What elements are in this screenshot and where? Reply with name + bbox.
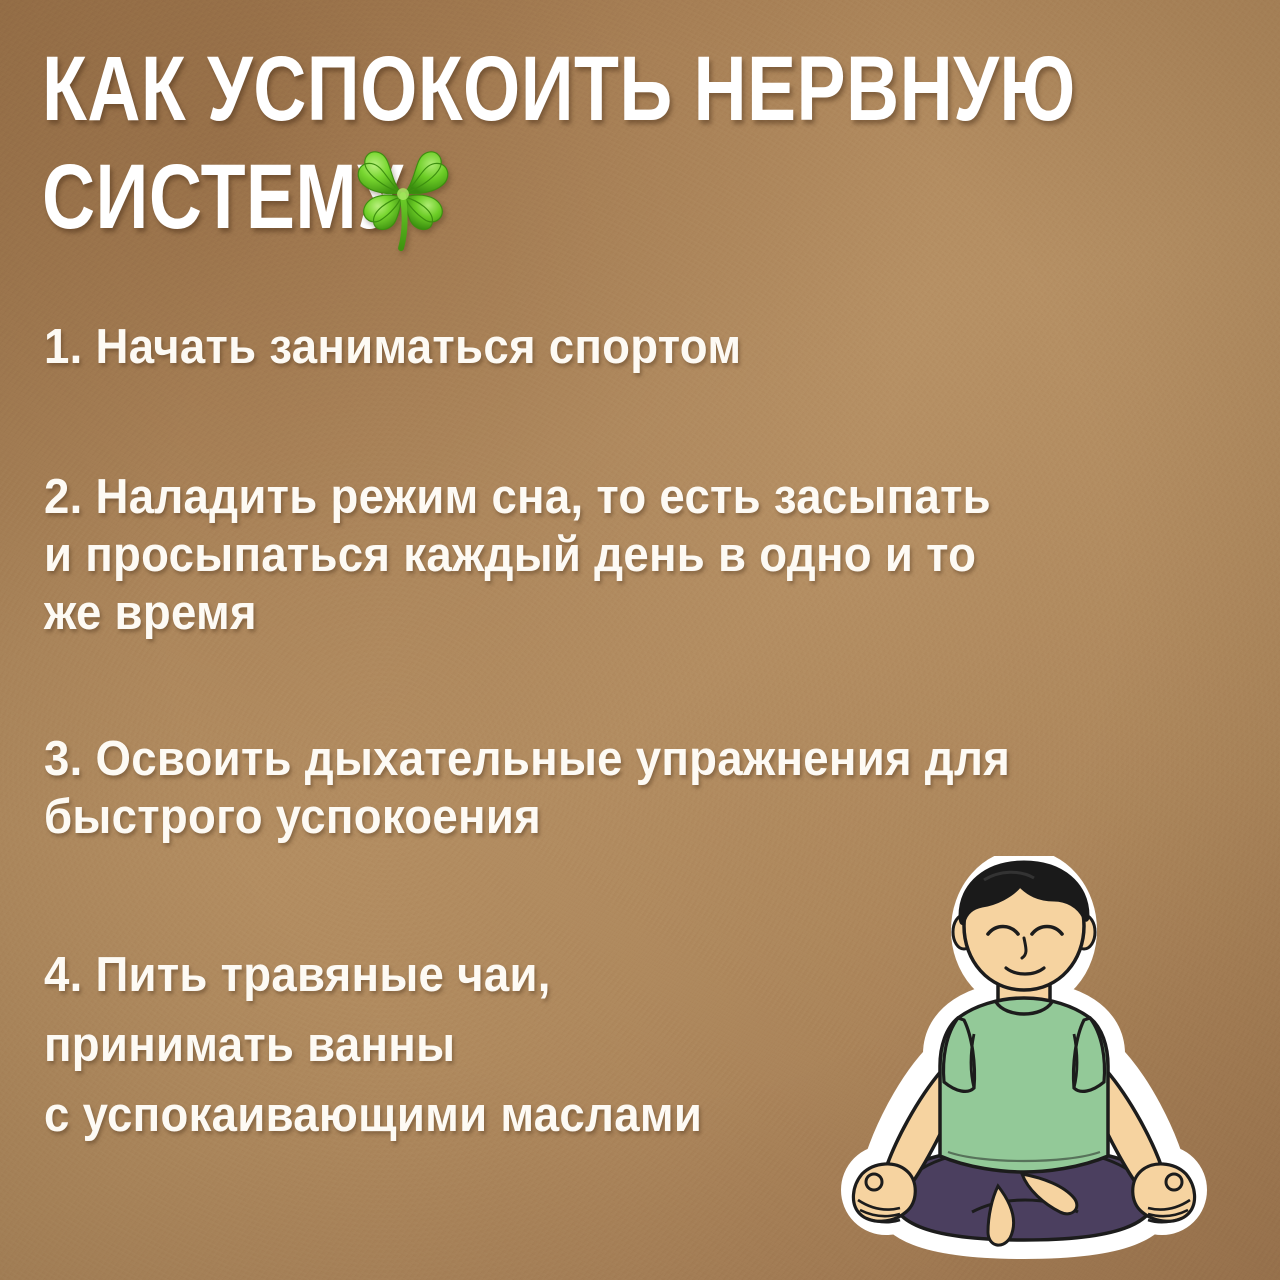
left-hand <box>853 1164 915 1222</box>
tip-2-line-3: же время <box>44 584 1151 642</box>
tip-3-line-1: 3. Освоить дыхательные упражнения для <box>44 730 1151 788</box>
tip-1-line-1: 1. Начать заниматься спортом <box>44 318 1151 376</box>
right-hand <box>1133 1164 1195 1222</box>
meditating-man-illustration <box>822 856 1226 1280</box>
title-line-1: КАК УСПОКОИТЬ НЕРВНУЮ <box>42 40 922 138</box>
title-line-2-row: СИСТЕМУ <box>42 138 1142 256</box>
tip-item-1: 1. Начать заниматься спортом <box>44 318 1151 376</box>
tip-2-line-2: и просыпаться каждый день в одно и то <box>44 526 1151 584</box>
tshirt <box>940 998 1108 1172</box>
figure-body <box>853 862 1194 1245</box>
tip-3-line-2: быстрого успокоения <box>44 788 1151 846</box>
page-title: КАК УСПОКОИТЬ НЕРВНУЮ СИСТЕМУ <box>42 40 1142 256</box>
poster-canvas: КАК УСПОКОИТЬ НЕРВНУЮ СИСТЕМУ <box>0 0 1280 1280</box>
tip-2-line-1: 2. Наладить режим сна, то есть засыпать <box>44 468 1151 526</box>
tip-item-3: 3. Освоить дыхательные упражнения для бы… <box>44 730 1151 846</box>
four-leaf-clover-icon <box>344 138 462 256</box>
tip-item-2: 2. Наладить режим сна, то есть засыпать … <box>44 468 1151 642</box>
